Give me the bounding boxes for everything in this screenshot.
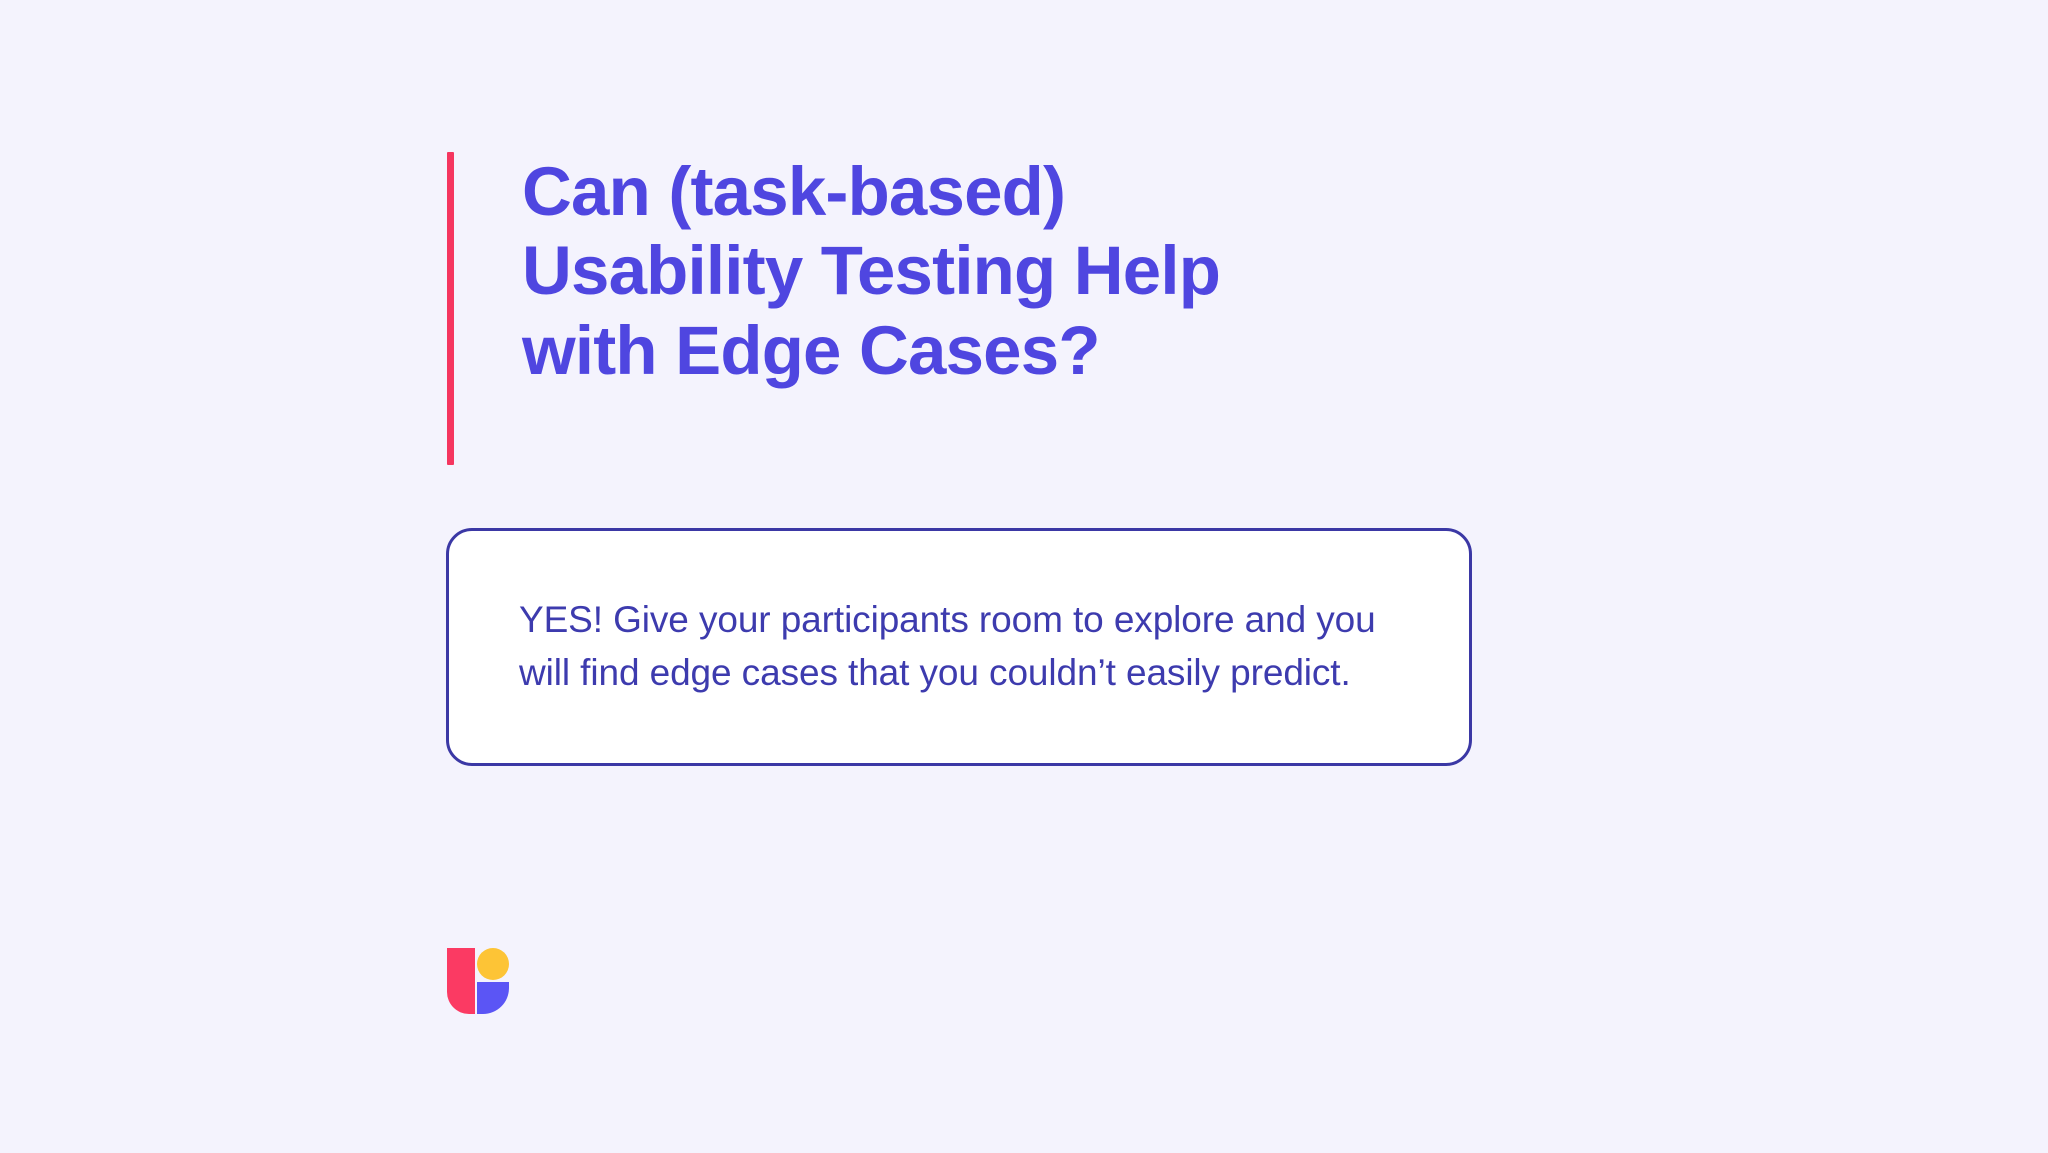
answer-card-text: YES! Give your participants room to expl… [449, 594, 1469, 699]
accent-bar [447, 152, 454, 465]
logo-yellow-circle [477, 948, 509, 980]
slide-canvas: Can (task-based) Usability Testing Help … [0, 0, 2048, 1153]
brand-logo [443, 948, 509, 1014]
logo-pink-u-shape [447, 948, 475, 1014]
page-title: Can (task-based) Usability Testing Help … [454, 152, 1220, 465]
logo-blue-semicircle [477, 982, 509, 1014]
headline-block: Can (task-based) Usability Testing Help … [447, 152, 1220, 465]
answer-card: YES! Give your participants room to expl… [446, 528, 1472, 766]
